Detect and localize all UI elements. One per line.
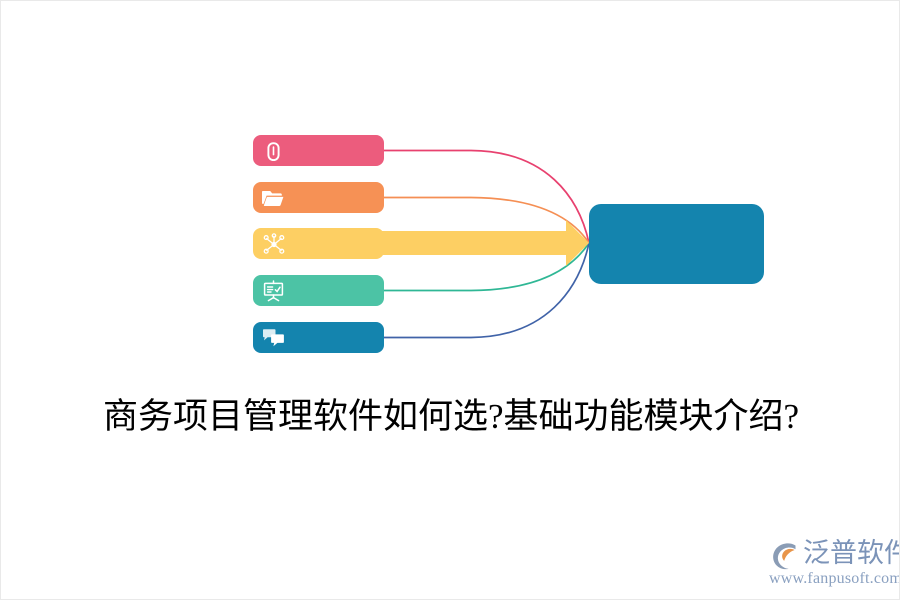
module-bar-messages[interactable] xyxy=(253,322,384,353)
target-box[interactable] xyxy=(589,204,764,284)
module-bar-attachment[interactable] xyxy=(253,135,384,166)
watermark-logo: 泛普软件 www.fanpusoft.com xyxy=(767,535,895,591)
module-bar-network[interactable] xyxy=(253,228,384,259)
diagram-canvas: 商务项目管理软件如何选?基础功能模块介绍? 泛普软件 www.fanpusoft… xyxy=(0,0,900,600)
brand-name: 泛普软件 xyxy=(803,537,900,569)
brand-url: www.fanpusoft.com xyxy=(769,569,900,589)
module-convergence-diagram xyxy=(1,1,900,401)
page-title: 商务项目管理软件如何选?基础功能模块介绍? xyxy=(1,393,900,441)
module-bar-documents[interactable] xyxy=(253,182,384,213)
module-bar-presentation[interactable] xyxy=(253,275,384,306)
